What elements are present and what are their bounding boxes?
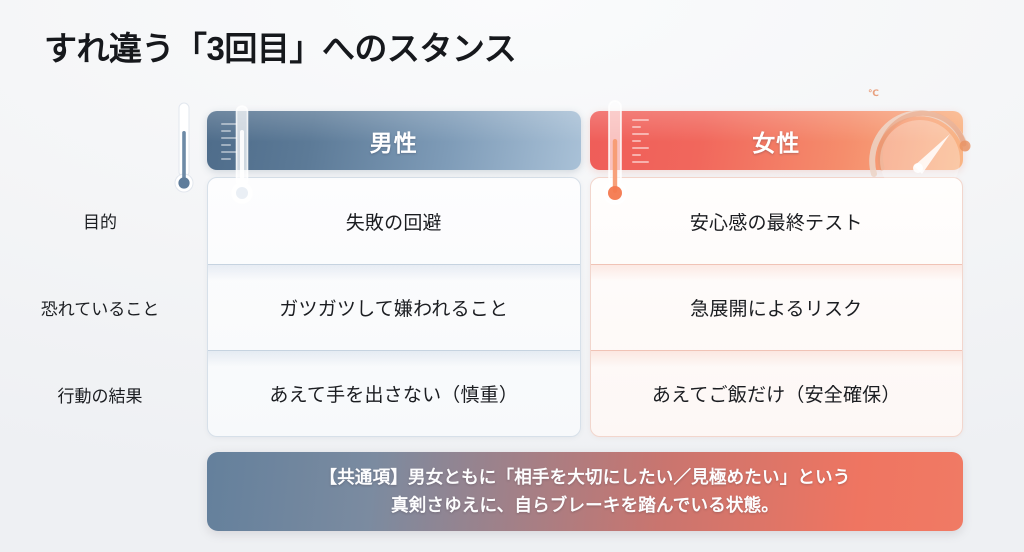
summary-line-2: 真剣さゆえに、自らブレーキを踏んでいる状態。	[391, 492, 779, 519]
column-header-male: 男性	[207, 111, 581, 170]
column-male-cells: 失敗の回避 ガツガツして嫌われること あえて手を出さない（慎重）	[207, 177, 581, 437]
page-title: すれ違う「3回目」へのスタンス	[44, 22, 516, 70]
row-label-column: 目的 恐れていること 行動の結果	[0, 177, 200, 437]
column-header-male-label: 男性	[370, 124, 418, 158]
table-body: 失敗の回避 ガツガツして嫌われること あえて手を出さない（慎重） 安心感の最終テ…	[207, 177, 963, 437]
table-cell: あえて手を出さない（慎重）	[208, 350, 580, 436]
table-cell: 安心感の最終テスト	[591, 178, 963, 264]
column-header-female: 女性	[590, 111, 964, 170]
slide-canvas: すれ違う「3回目」へのスタンス 目的 恐れていること 行動の結果 男性 女性	[0, 0, 1024, 552]
table-cell: 急展開によるリスク	[591, 264, 963, 350]
summary-banner: 【共通項】男女ともに「相手を大切にしたい／見極めたい」という 真剣さゆえに、自ら…	[207, 452, 963, 531]
table-cell: 失敗の回避	[208, 178, 580, 264]
column-female-cells: 安心感の最終テスト 急展開によるリスク あえてご飯だけ（安全確保）	[590, 177, 964, 437]
table-header-row: 男性 女性	[207, 111, 963, 170]
thermometer-scale-icon	[221, 123, 237, 159]
column-header-female-label: 女性	[752, 124, 800, 158]
table-cell: あえてご飯だけ（安全確保）	[591, 350, 963, 436]
degree-symbol-label: ℃	[868, 88, 879, 99]
row-label-fear: 恐れていること	[0, 264, 200, 350]
row-label-purpose: 目的	[0, 177, 200, 263]
row-label-behavior: 行動の結果	[0, 351, 200, 437]
table-cell: ガツガツして嫌われること	[208, 264, 580, 350]
comparison-table: 男性 女性 失敗の回避 ガツガツして嫌われること あえて手を出さない（慎重） 安…	[207, 111, 963, 437]
summary-line-1: 【共通項】男女ともに「相手を大切にしたい／見極めたい」という	[320, 464, 851, 491]
thermometer-scale-icon	[632, 119, 649, 163]
